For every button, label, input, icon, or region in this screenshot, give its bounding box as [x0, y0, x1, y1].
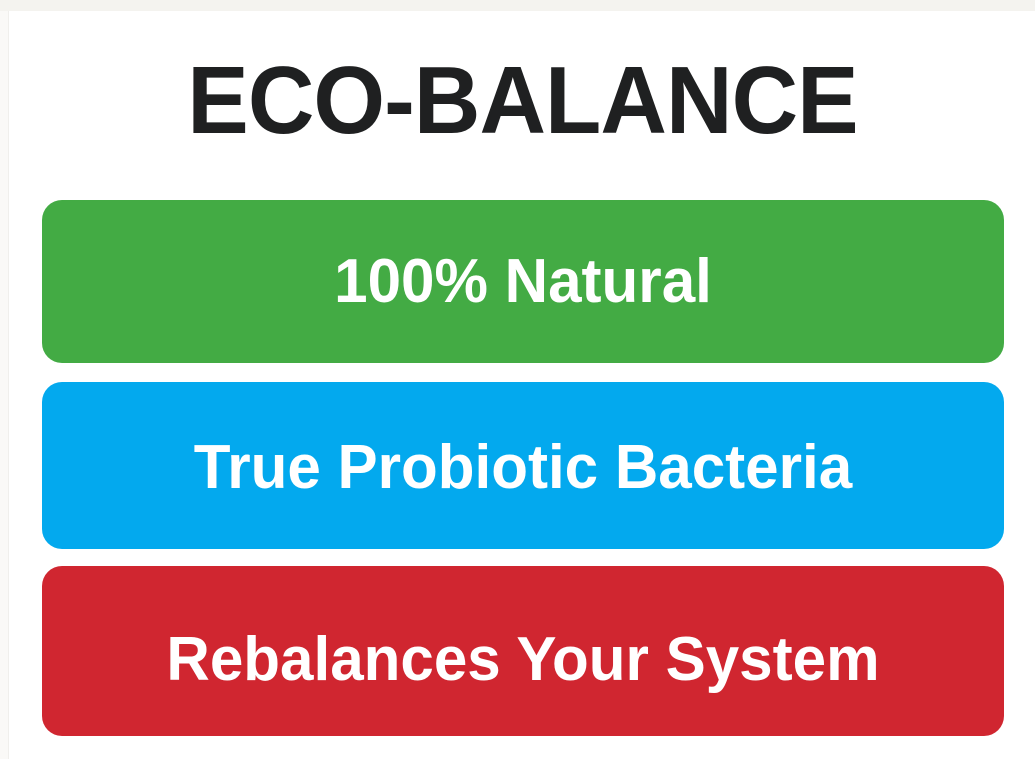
- claim-banner-probiotic: True Probiotic Bacteria: [42, 382, 1004, 549]
- claim-label-probiotic: True Probiotic Bacteria: [56, 432, 989, 504]
- page-title: ECO-BALANCE: [31, 46, 1015, 156]
- product-claims-page: ECO-BALANCE 100% Natural True Probiotic …: [0, 0, 1035, 759]
- claim-banner-rebalance: Rebalances Your System: [42, 566, 1004, 736]
- claim-label-rebalance: Rebalances Your System: [56, 624, 989, 696]
- content-area: ECO-BALANCE 100% Natural True Probiotic …: [10, 11, 1035, 759]
- top-edge-strip: [0, 0, 1035, 11]
- claim-banner-natural: 100% Natural: [42, 200, 1004, 363]
- claim-label-natural: 100% Natural: [56, 246, 989, 318]
- left-page-gutter: [0, 11, 9, 759]
